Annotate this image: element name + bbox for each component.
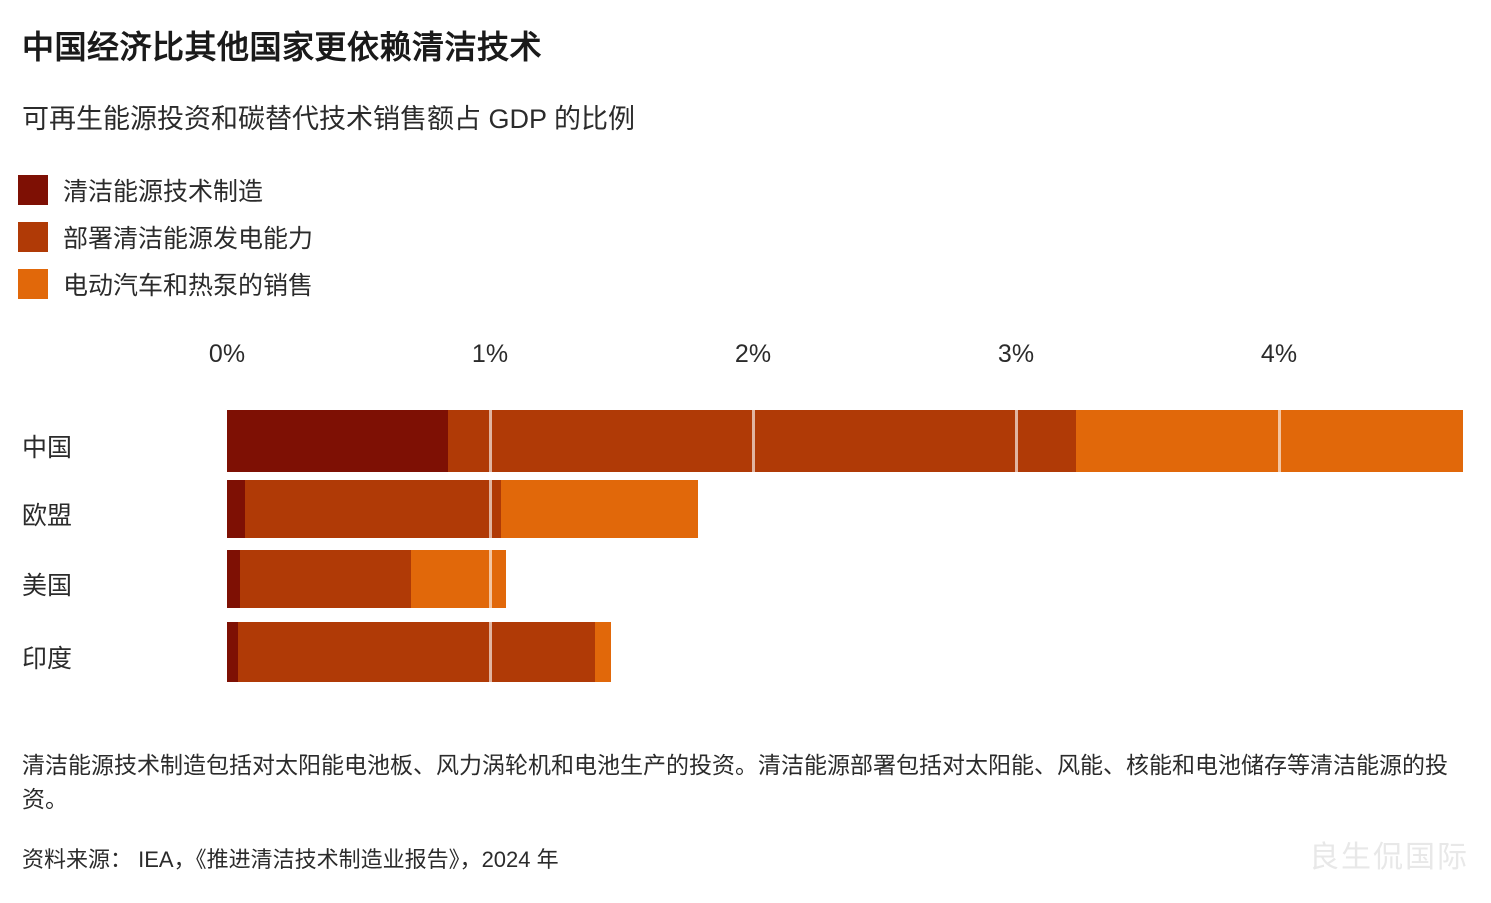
bar-row[interactable]: 欧盟 — [0, 480, 1491, 538]
chart-legend: 清洁能源技术制造 部署清洁能源发电能力 电动汽车和热泵的销售 — [18, 166, 313, 307]
legend-swatch-sales — [18, 269, 48, 299]
bar-segment[interactable] — [1076, 410, 1463, 472]
bar-track — [227, 480, 698, 538]
legend-item-sales[interactable]: 电动汽车和热泵的销售 — [18, 260, 313, 307]
x-tick-label: 2% — [735, 340, 771, 369]
gridline — [752, 410, 755, 472]
x-tick-label: 3% — [998, 340, 1034, 369]
bar-segment[interactable] — [595, 622, 611, 682]
x-tick-label: 1% — [472, 340, 508, 369]
legend-swatch-deployment — [18, 222, 48, 252]
gridline — [1278, 410, 1281, 472]
legend-label-deployment: 部署清洁能源发电能力 — [63, 219, 313, 255]
chart-canvas: 中国经济比其他国家更依赖清洁技术 可再生能源投资和碳替代技术销售额占 GDP 的… — [0, 0, 1491, 903]
bar-segment[interactable] — [227, 622, 238, 682]
bar-segment[interactable] — [227, 410, 448, 472]
bar-track — [227, 622, 611, 682]
bar-category-label: 中国 — [22, 428, 72, 464]
bar-row[interactable]: 美国 — [0, 550, 1491, 608]
bar-track — [227, 410, 1463, 472]
bar-track — [227, 550, 506, 608]
bar-segment[interactable] — [238, 622, 596, 682]
source-text: 资料来源： IEA，《推进清洁技术制造业报告》，2024 年 — [22, 842, 559, 874]
bar-segment[interactable] — [227, 550, 240, 608]
bar-category-label: 欧盟 — [22, 496, 72, 532]
bar-row[interactable]: 中国 — [0, 410, 1491, 472]
legend-swatch-manufacturing — [18, 175, 48, 205]
page-title: 中国经济比其他国家更依赖清洁技术 — [22, 22, 542, 68]
bar-segment[interactable] — [501, 480, 698, 538]
gridline — [1015, 410, 1018, 472]
watermark: 良生侃国际 — [1309, 832, 1469, 876]
bar-segment[interactable] — [227, 480, 245, 538]
gridline — [489, 480, 492, 538]
bar-segment[interactable] — [245, 480, 500, 538]
x-tick-label: 0% — [209, 340, 245, 369]
bar-category-label: 印度 — [22, 639, 72, 675]
legend-item-manufacturing[interactable]: 清洁能源技术制造 — [18, 166, 313, 213]
chart-subtitle: 可再生能源投资和碳替代技术销售额占 GDP 的比例 — [22, 97, 635, 136]
bar-segment[interactable] — [448, 410, 1077, 472]
legend-item-deployment[interactable]: 部署清洁能源发电能力 — [18, 213, 313, 260]
bar-group: 中国欧盟美国印度 — [0, 410, 1491, 705]
bar-segment[interactable] — [240, 550, 411, 608]
legend-label-manufacturing: 清洁能源技术制造 — [63, 172, 263, 208]
x-axis: 0%1%2%3%4% — [0, 340, 1491, 388]
bar-row[interactable]: 印度 — [0, 622, 1491, 682]
footnote-text: 清洁能源技术制造包括对太阳能电池板、风力涡轮机和电池生产的投资。清洁能源部署包括… — [22, 748, 1452, 816]
gridline — [489, 622, 492, 682]
plot-area: 0%1%2%3%4% 中国欧盟美国印度 — [0, 340, 1491, 705]
legend-label-sales: 电动汽车和热泵的销售 — [63, 266, 313, 302]
gridline — [489, 550, 492, 608]
x-tick-label: 4% — [1261, 340, 1297, 369]
gridline — [489, 410, 492, 472]
bar-category-label: 美国 — [22, 566, 72, 602]
